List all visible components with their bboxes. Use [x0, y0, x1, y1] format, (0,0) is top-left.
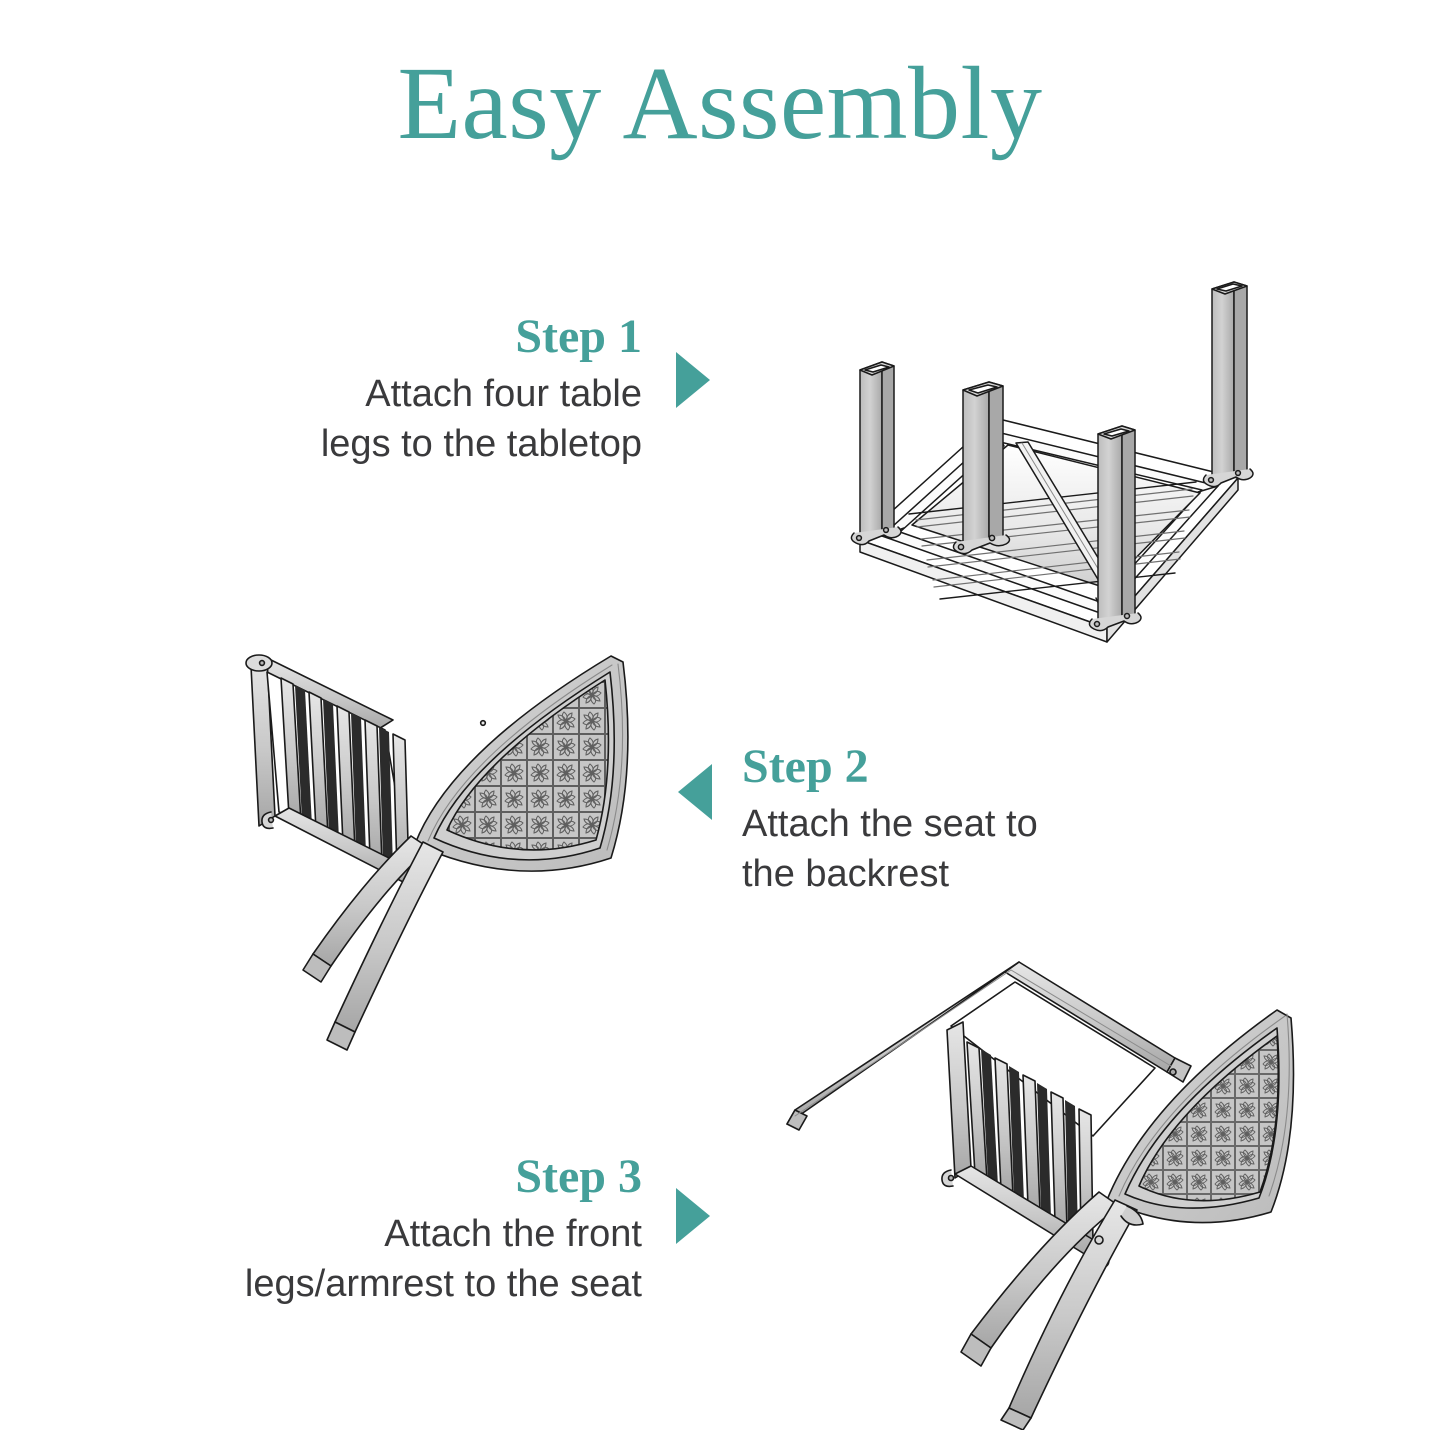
step-1-body: Attach four table legs to the tabletop [160, 370, 642, 469]
illustration-chair-seat-and-backrest [215, 630, 655, 1090]
step-3-body-line-1: Attach the front [150, 1210, 642, 1259]
step-1-body-line-2: legs to the tabletop [160, 420, 642, 469]
page-title: Easy Assembly [0, 46, 1440, 162]
assembly-instructions-page: Easy Assembly Step 1 Attach four table l… [0, 0, 1440, 1440]
step-3-text-block: Step 3 Attach the front legs/armrest to … [150, 1152, 642, 1309]
step-3-body: Attach the front legs/armrest to the sea… [150, 1210, 642, 1309]
step-3-body-line-2: legs/armrest to the seat [150, 1260, 642, 1309]
illustration-chair-with-front-legs-and-armrest [755, 930, 1335, 1430]
step-1-text-block: Step 1 Attach four table legs to the tab… [160, 312, 642, 469]
step-1-body-line-1: Attach four table [160, 370, 642, 419]
triangle-right-icon [676, 352, 710, 408]
step-2-body: Attach the seat to the backrest [742, 800, 1162, 899]
step-2-heading: Step 2 [742, 742, 1162, 792]
step-3-heading: Step 3 [150, 1152, 642, 1202]
step-1-heading: Step 1 [160, 312, 642, 362]
triangle-right-icon [676, 1188, 710, 1244]
step-2-body-line-1: Attach the seat to [742, 800, 1162, 849]
step-2-body-line-2: the backrest [742, 850, 1162, 899]
triangle-left-icon [678, 764, 712, 820]
illustration-table-frame-with-four-legs [820, 190, 1280, 660]
step-2-text-block: Step 2 Attach the seat to the backrest [742, 742, 1162, 899]
